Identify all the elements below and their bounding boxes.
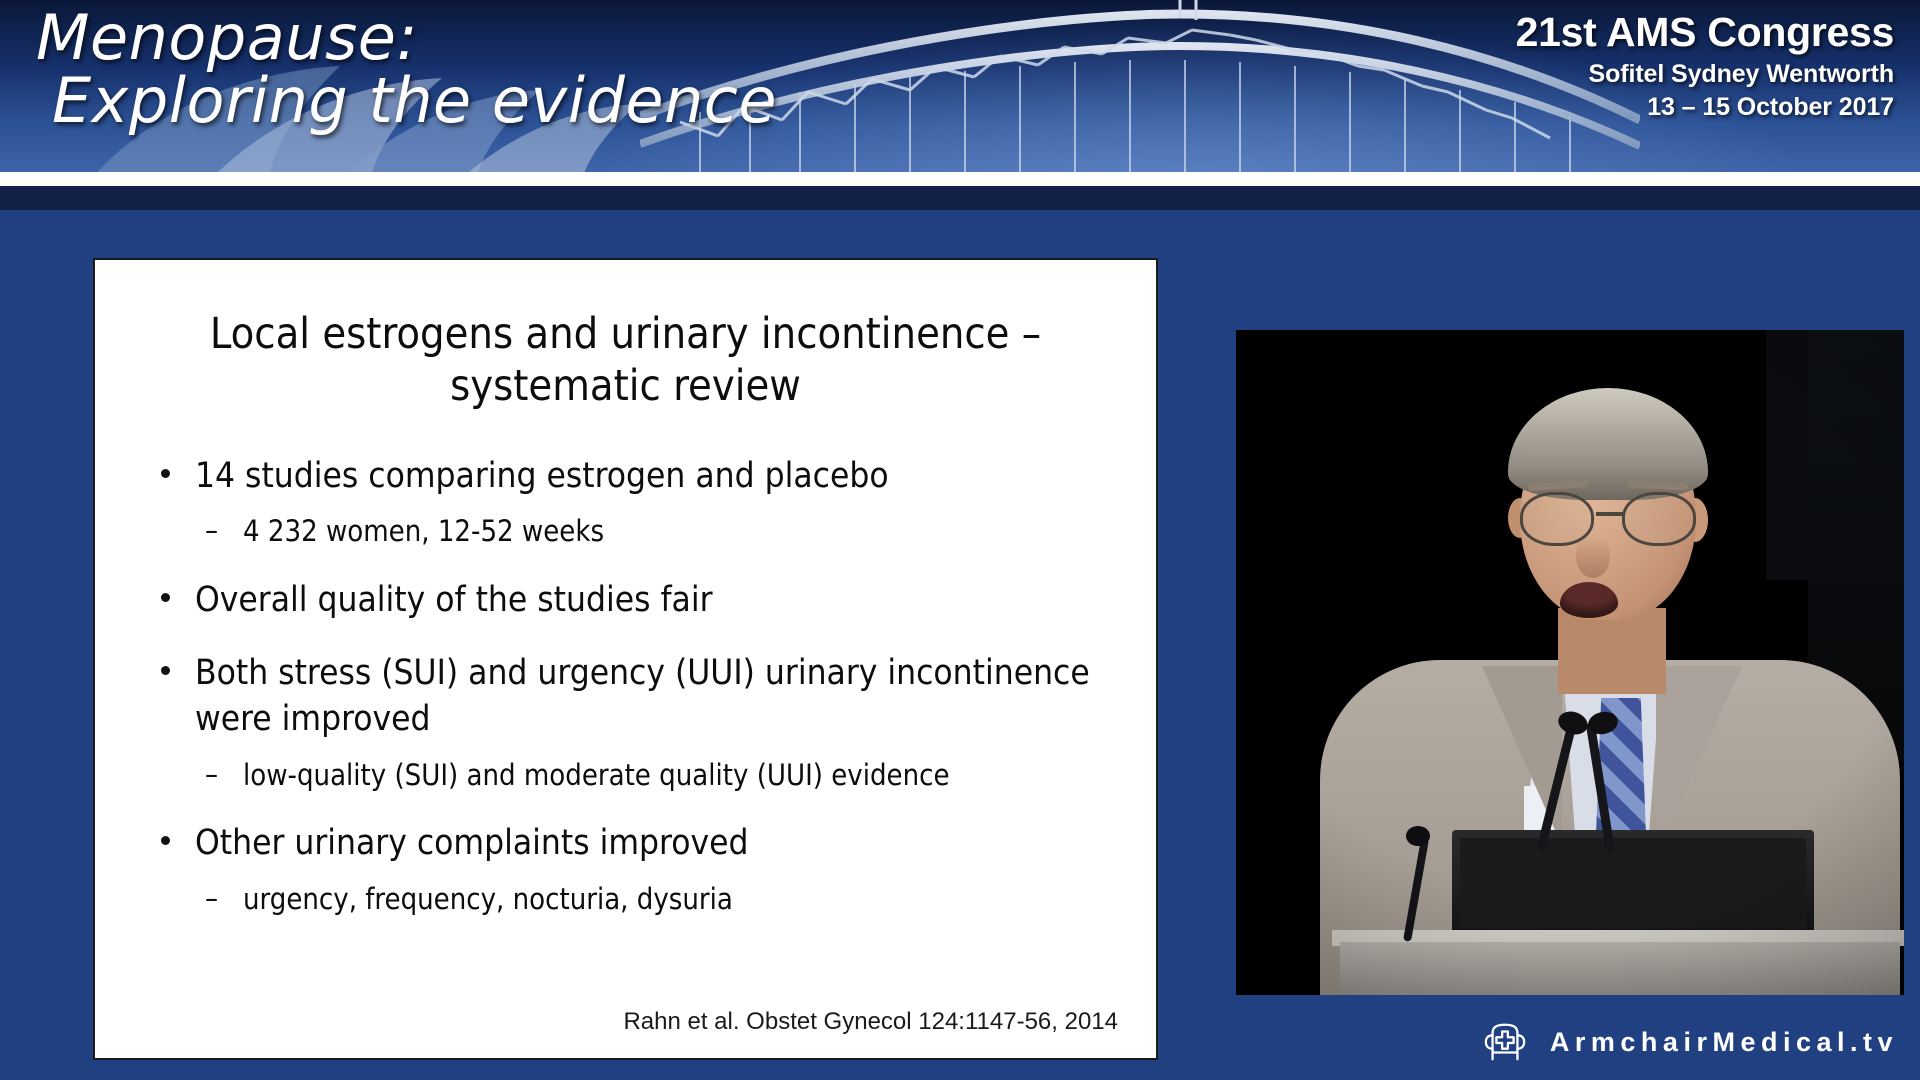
slide-panel: Local estrogens and urinary incontinence… — [93, 258, 1158, 1060]
slide-bullet-list: 14 studies comparing estrogen and placeb… — [95, 453, 1156, 919]
bullet-marker-icon — [161, 836, 170, 845]
sydney-harbour-bridge-graphic — [640, 0, 1640, 172]
banner-white-gap — [0, 172, 1920, 186]
speaker-video-thumbnail[interactable] — [1236, 330, 1904, 995]
sub-bullet-text: 4 232 women, 12-52 weeks — [243, 514, 604, 548]
bullet-text: Other urinary complaints improved — [195, 823, 748, 863]
congress-title: 21st AMS Congress — [1516, 8, 1894, 56]
armchair-medical-logo[interactable]: ArmchairMedical.tv — [1482, 1020, 1898, 1064]
event-header-banner: Menopause: Exploring the evidence 21st A… — [0, 0, 1920, 172]
brand-name: ArmchairMedical.tv — [1550, 1027, 1898, 1058]
sub-bullet-marker-icon: – — [205, 756, 218, 794]
event-title: Menopause: Exploring the evidence — [36, 6, 777, 132]
bullet-item: Other urinary complaints improved — [139, 820, 1112, 867]
video-vignette — [1236, 330, 1904, 995]
bullet-text: Overall quality of the studies fair — [195, 580, 713, 620]
banner-navy-rule — [0, 186, 1920, 210]
presentation-page: Menopause: Exploring the evidence 21st A… — [0, 0, 1920, 1080]
sub-bullet-text: low-quality (SUI) and moderate quality (… — [243, 758, 950, 792]
bullet-item: Both stress (SUI) and urgency (UUI) urin… — [139, 650, 1112, 743]
sub-bullet-item: – low-quality (SUI) and moderate quality… — [139, 757, 1112, 795]
armchair-medical-cross-icon — [1482, 1020, 1528, 1064]
slide-title: Local estrogens and urinary incontinence… — [147, 308, 1104, 413]
bullet-item: 14 studies comparing estrogen and placeb… — [139, 453, 1112, 500]
bullet-item: Overall quality of the studies fair — [139, 577, 1112, 624]
bullet-marker-icon — [161, 469, 170, 478]
bullet-marker-icon — [161, 666, 170, 675]
event-title-line1: Menopause: — [36, 6, 777, 69]
event-title-line2: Exploring the evidence — [52, 69, 777, 132]
sub-bullet-marker-icon: – — [205, 880, 218, 918]
congress-info: 21st AMS Congress Sofitel Sydney Wentwor… — [1516, 8, 1894, 123]
bullet-text: 14 studies comparing estrogen and placeb… — [195, 456, 889, 496]
sub-bullet-item: – urgency, frequency, nocturia, dysuria — [139, 881, 1112, 919]
congress-dates: 13 – 15 October 2017 — [1516, 91, 1894, 124]
bullet-text: Both stress (SUI) and urgency (UUI) urin… — [195, 653, 1090, 740]
bullet-marker-icon — [161, 593, 170, 602]
sub-bullet-item: – 4 232 women, 12-52 weeks — [139, 513, 1112, 551]
slide-citation: Rahn et al. Obstet Gynecol 124:1147-56, … — [623, 1008, 1118, 1036]
congress-venue: Sofitel Sydney Wentworth — [1516, 58, 1894, 91]
sub-bullet-marker-icon: – — [205, 512, 218, 550]
sub-bullet-text: urgency, frequency, nocturia, dysuria — [243, 882, 733, 916]
